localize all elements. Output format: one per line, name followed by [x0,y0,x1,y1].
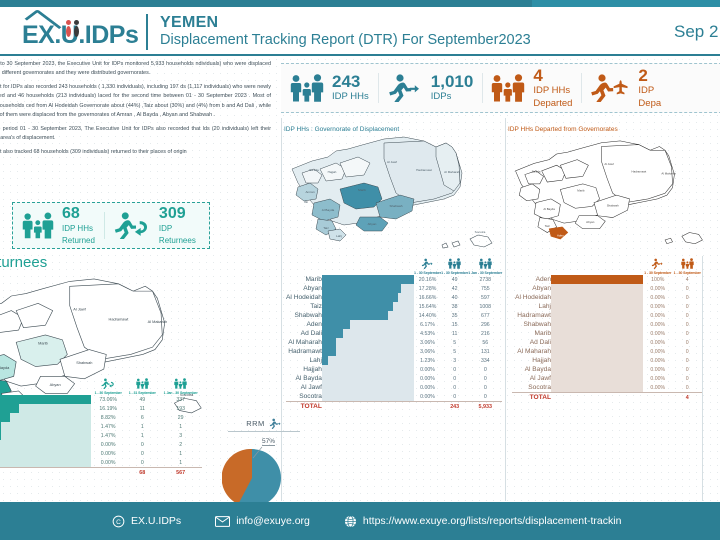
bar-track [0,449,91,458]
svg-text:Abyan: Abyan [368,222,377,226]
row-hh: 0 [672,320,702,329]
family-icon [441,258,468,271]
top-accent-bar-left [0,0,532,7]
row-total: 2738 [468,275,502,284]
stat-label2: Returned [62,236,95,245]
row-percent: 0.00% [643,284,672,293]
row-total: 1 [159,449,202,458]
rrm-chart-title: RRM [228,418,300,432]
row-total: 334 [468,356,502,365]
family-icon [672,258,702,271]
col-bar [551,258,643,275]
row-total: 216 [468,329,502,338]
table-row: Lahj0.00%0 [512,302,702,311]
svg-text:Hadramawt: Hadramawt [109,316,130,321]
table-body: Al Hodeidah73.06%49337Taiz16.19%11193Ad … [0,395,202,468]
bar-fill [322,338,336,347]
footer-email[interactable]: info@exuye.org [215,515,310,527]
bar-track [0,431,91,440]
svg-text:Aden: Aden [557,233,564,237]
stat-value: 68 [62,206,95,222]
col-header-label: 1 Jan - 30 September [159,391,202,395]
row-hh: 38 [441,302,468,311]
footer-website[interactable]: https://www.exuye.org/lists/reports/disp… [344,515,622,528]
row-bar-cell [551,275,643,284]
row-governorate: Aden [286,320,322,329]
departed-map-label: IDP HHs Departed from Governorates [508,126,618,133]
bar-track [0,422,91,431]
row-total: 3 [159,431,202,440]
row-governorate: Lahj [512,302,551,311]
row-governorate: Al Maharah [512,347,551,356]
family-icon [290,74,324,102]
total-hh: 68 [125,468,159,477]
row-governorate: Al Jawf [286,383,322,392]
col-header-label: 1 - 30 September [643,271,672,275]
stat-value: 309 [159,206,196,222]
table-row: Hadramawt3.06%5131 [286,347,502,356]
row-total: 1 [159,422,202,431]
table-row: Al Jawf0.00%00 [286,383,502,392]
svg-text:Shabwah: Shabwah [390,204,403,208]
col-total: 1 Jan - 30 September [468,258,502,275]
table-row: Marib20.16%492738 [286,275,502,284]
row-total: 56 [468,338,502,347]
svg-text:Al Jawf: Al Jawf [604,162,613,166]
svg-text:Marib: Marib [577,188,585,192]
total-label: TOTAL [286,402,322,411]
bar-fill [322,347,336,356]
stat-label: IDP HHs [533,86,572,97]
svg-text:Al Maharah: Al Maharah [444,170,460,174]
bar-track [322,311,414,320]
row-percent: 0.00% [414,365,441,374]
total-hh: 4 [672,393,702,402]
row-percent: 0.00% [91,449,125,458]
row-total: 2 [159,440,202,449]
bar-fill [322,302,393,311]
table-row: Socotra0.00%00 [286,392,502,402]
svg-text:Al Maharah: Al Maharah [661,172,676,176]
row-hh: 0 [125,458,159,468]
returnees-summary-box: 68 IDP HHs Returned 309 IDP Returnees [12,202,210,249]
narrative-paragraph: tive Unit for IDPs also recorded 243 hou… [0,83,271,120]
row-bar-cell [322,365,414,374]
stat-idp-hhs: 243 IDP HHs [281,64,378,112]
row-percent: 1.47% [91,422,125,431]
footer-brand-text: EX.U.IDPs [131,515,181,527]
row-governorate: Al Hodeidah [512,293,551,302]
svg-text:Taiz: Taiz [323,226,329,230]
table-row: Amran0.00%01 [0,458,202,468]
row-bar-cell [322,338,414,347]
col-header-label: 1 - 30 September [91,391,125,395]
bar-fill [0,431,1,440]
row-hh: 40 [441,293,468,302]
narrative-paragraph: e same period 01 - 30 September 2023, Th… [0,125,271,144]
col-percent: 1 - 30 September [643,258,672,275]
bar-track [551,284,643,293]
row-percent: 1.47% [91,431,125,440]
bar-track [322,392,414,401]
row-governorate: Hajjah [286,365,322,374]
bar-fill [322,293,398,302]
col-bar [0,378,91,395]
bar-fill [0,395,91,404]
table-header: 1 - 30 September 1 - 30 September [512,258,702,275]
row-hh: 0 [672,374,702,383]
stat-value: 2 [638,67,661,84]
bar-track [551,338,643,347]
row-percent: 0.00% [643,293,672,302]
bar-track [551,293,643,302]
header-divider [146,14,148,50]
table-footer: TOTAL 68 567 [0,468,202,477]
col-percent: 1 - 30 September [91,378,125,395]
summary-stats-strip: 243 IDP HHs 1,010 IDPs [281,63,720,113]
row-percent: 16.19% [91,404,125,413]
row-bar-cell [551,365,643,374]
row-governorate: Ad Dali [512,338,551,347]
bar-track [322,302,414,311]
row-hh: 42 [441,284,468,293]
svg-text:Al Bayda: Al Bayda [0,365,10,370]
bar-track [322,329,414,338]
displacement-map-label: IDP HHs : Governorate of Displacement [284,126,399,133]
row-total: 296 [468,320,502,329]
table-footer: TOTAL 4 [512,393,702,402]
table-row: Al Bayda1.47%13 [0,431,202,440]
row-bar-cell [322,383,414,392]
row-bar-cell [551,320,643,329]
bar-fill [0,422,1,431]
row-governorate: Marib [286,275,322,284]
row-percent: 0.00% [643,338,672,347]
table-row: Ad Dali8.82%629 [0,413,202,422]
row-percent: 8.82% [91,413,125,422]
row-governorate: Hajjah [512,356,551,365]
total-hh: 243 [441,402,468,411]
row-hh: 0 [441,374,468,383]
svg-text:Marib: Marib [358,188,366,192]
total-label: TOTAL [512,393,551,402]
row-percent: 0.00% [414,392,441,402]
family-icon [159,378,202,391]
row-hh: 0 [672,302,702,311]
row-percent: 0.00% [643,329,672,338]
person-moving-icon [269,418,282,429]
row-bar-cell [322,329,414,338]
table-row: Hajjah0.00%0 [512,356,702,365]
table-returnees: 1 - 30 September 1 - 31 September [0,378,202,476]
stat-idp-hhs-departed: 4 IDP HHs Departed [482,64,581,112]
person-moving-icon [414,258,441,271]
departed-table: 1 - 30 September 1 - 30 September Aden10… [512,258,702,401]
svg-text:Al Jawf: Al Jawf [73,307,86,312]
total-all: 5,933 [468,402,502,411]
bar-track [322,383,414,392]
table-row: Hajjah0.00%02 [0,440,202,449]
bar-track [551,365,643,374]
bar-track [322,284,414,293]
footer-email-text: info@exuye.org [236,515,310,527]
bar-track [322,374,414,383]
table-row: Al Hodeidah0.00%0 [512,293,702,302]
row-governorate: Abyan [286,284,322,293]
table-row: Al Hodeidah16.66%40597 [286,293,502,302]
row-bar-cell [322,275,414,284]
svg-text:Hajjah: Hajjah [328,170,337,174]
svg-text:Shabwah: Shabwah [76,360,92,365]
row-hh: 0 [672,311,702,320]
row-bar-cell [322,293,414,302]
table-row: Taiz16.19%11193 [0,404,202,413]
table-row: Ad Dali0.00%0 [512,338,702,347]
row-hh: 0 [672,293,702,302]
row-hh: 0 [672,356,702,365]
col-hh: 1 - 30 September [441,258,468,275]
stat-value: 243 [332,73,369,90]
total-all: 567 [159,468,202,477]
row-hh: 0 [441,383,468,392]
stat-idp-returnees: 309 IDP Returnees [104,203,205,248]
stat-value: 1,010 [431,73,474,90]
svg-text:Amran: Amran [305,190,314,194]
table-row: Hadramawt0.00%0 [512,311,702,320]
panel-divider-right [702,256,703,501]
svg-text:Sa'ada: Sa'ada [309,168,319,172]
table-row: Ad Dali4.53%11216 [286,329,502,338]
bar-track [551,275,643,284]
row-governorate: Lahj [286,356,322,365]
row-hh: 1 [125,422,159,431]
stat-label2: Departed [533,99,572,110]
table-row: Al Hodeidah73.06%49337 [0,395,202,404]
table-row: Socotra0.00%0 [512,383,702,393]
person-moving-icon [387,74,423,102]
footer-website-text: https://www.exuye.org/lists/reports/disp… [363,515,622,527]
col-header-label: 1 - 30 September [414,271,441,275]
row-percent: 0.00% [643,311,672,320]
svg-text:Al Bayda: Al Bayda [322,208,335,212]
person-departing-icon [590,74,630,102]
row-percent: 100% [643,275,672,284]
person-return-icon [91,378,125,391]
table-row: Taiz15.64%381008 [286,302,502,311]
row-total: 0 [468,365,502,374]
col-hh: 1 - 30 September [672,258,702,275]
row-hh: 35 [441,311,468,320]
svg-text:Shabwah: Shabwah [607,203,619,207]
row-governorate: Al Maharah [286,338,322,347]
stat-label: IDP [638,86,661,97]
row-percent: 3.06% [414,347,441,356]
row-governorate: Abyan [512,284,551,293]
svg-text:Taiz: Taiz [545,224,551,228]
row-governorate: Al Bayda [512,365,551,374]
row-bar-cell [0,458,91,468]
row-hh: 0 [125,440,159,449]
stat-label: IDP HHs [62,224,95,233]
row-hh: 15 [441,320,468,329]
bar-fill [322,320,350,329]
row-percent: 0.00% [91,440,125,449]
row-bar-cell [551,284,643,293]
row-total: 29 [159,413,202,422]
family-icon [125,378,159,391]
page-header: EX.U.IDPs YEMEN Displacement Tracking Re… [0,9,720,56]
table-row: Shabwah0.00%0 [512,320,702,329]
table-row: Shabwah0.00%01 [0,449,202,458]
row-percent: 14.40% [414,311,441,320]
row-bar-cell [551,374,643,383]
bar-fill [0,404,19,413]
table-row: Al Bayda0.00%00 [286,374,502,383]
table-row: Abyan17.28%42755 [286,284,502,293]
bar-track [322,347,414,356]
row-bar-cell [322,284,414,293]
row-governorate: Shabwah [286,311,322,320]
stat-label: IDP [159,224,196,233]
stat-label: IDPs [431,92,474,103]
row-governorate: Hadramawt [286,347,322,356]
row-hh: 11 [125,404,159,413]
svg-text:Lahj: Lahj [336,234,342,238]
row-governorate: Aden [512,275,551,284]
row-total: 337 [159,395,202,404]
col-governorate [286,258,322,275]
bar-fill [322,329,343,338]
bar-track [551,302,643,311]
row-governorate: Al Hodeidah [286,293,322,302]
row-bar-cell [0,413,91,422]
row-total: 0 [468,374,502,383]
row-percent: 15.64% [414,302,441,311]
row-governorate: Socotra [512,383,551,393]
row-bar-cell [551,302,643,311]
row-hh: 0 [441,392,468,402]
report-subtitle: Displacement Tracking Report (DTR) For S… [160,32,531,48]
table-row: Aden100%4 [512,275,702,284]
displacement-table: 1 - 30 September 1 - 30 September [286,258,502,410]
country-title: YEMEN [160,14,531,32]
page-footer: C EX.U.IDPs info@exuye.org https://www.e… [0,502,720,540]
row-total: 1008 [468,302,502,311]
rrm-pie [222,444,294,508]
row-hh: 49 [125,395,159,404]
row-governorate: Socotra [286,392,322,402]
col-governorate [512,258,551,275]
family-icon [22,212,54,239]
row-hh: 5 [441,338,468,347]
returnees-table: 1 - 30 September 1 - 31 September [0,378,202,476]
bar-track [0,395,91,404]
narrative-paragraph: tive Unit also tracked 68 households (30… [0,148,271,157]
bar-fill [322,284,401,293]
row-hh: 5 [441,347,468,356]
table-footer: TOTAL 243 5,933 [286,402,502,411]
row-percent: 0.00% [643,383,672,393]
row-total: 0 [468,383,502,392]
row-bar-cell [551,293,643,302]
logo-mark: EX.U.IDPs [22,14,140,50]
table-row: Al Maharah3.06%556 [286,338,502,347]
row-total: 677 [468,311,502,320]
table-body: Marib20.16%492738Abyan17.28%42755Al Hode… [286,275,502,402]
top-accent-bar-right [532,0,720,7]
stat-idps: 1,010 IDPs [378,64,483,112]
table-row: Al Maharah0.00%0 [512,347,702,356]
footer-brand: C EX.U.IDPs [112,515,181,528]
row-total: 597 [468,293,502,302]
logo[interactable]: EX.U.IDPs [0,14,140,50]
row-percent: 1.23% [414,356,441,365]
row-percent: 17.28% [414,284,441,293]
row-percent: 0.00% [91,458,125,468]
row-percent: 20.16% [414,275,441,284]
row-bar-cell [322,356,414,365]
bar-track [322,320,414,329]
svg-text:Abyan: Abyan [586,220,595,224]
row-governorate: Hadramawt [512,311,551,320]
bar-track [0,413,91,422]
row-percent: 4.53% [414,329,441,338]
row-hh: 3 [441,356,468,365]
row-governorate: Ad Dali [286,329,322,338]
row-hh: 0 [672,347,702,356]
row-hh: 0 [125,449,159,458]
svg-text:Al Jawf: Al Jawf [387,160,397,164]
row-percent: 0.00% [414,383,441,392]
bar-track [322,356,414,365]
family-icon [468,258,502,271]
row-hh: 0 [672,329,702,338]
bar-track [322,365,414,374]
row-bar-cell [551,311,643,320]
bar-track [551,356,643,365]
bar-track [0,458,91,467]
row-bar-cell [322,392,414,402]
svg-text:Al Bayda: Al Bayda [543,207,555,211]
svg-text:C: C [116,519,121,526]
svg-text:Marib: Marib [38,341,48,346]
row-governorate: Taiz [286,302,322,311]
row-governorate: Shabwah [512,320,551,329]
row-percent: 0.00% [414,374,441,383]
row-bar-cell [0,449,91,458]
row-governorate: Marib [512,329,551,338]
row-percent: 0.00% [643,374,672,383]
person-moving-icon [643,258,672,271]
table-departed: 1 - 30 September 1 - 30 September Aden10… [512,258,702,401]
row-total: 755 [468,284,502,293]
bar-track [551,374,643,383]
row-percent: 0.00% [643,356,672,365]
bar-track [322,338,414,347]
table-row: Hajjah0.00%00 [286,365,502,374]
row-bar-cell [0,422,91,431]
row-percent: 16.66% [414,293,441,302]
narrative-text: anuary to 30 September 2023, the Executi… [0,60,277,162]
row-percent: 6.17% [414,320,441,329]
stat-label: IDP HHs [332,92,369,103]
table-header: 1 - 30 September 1 - 31 September [0,378,202,395]
svg-text:Hadramawt: Hadramawt [416,168,432,172]
map-departed: Sa'adaAl Jawf MaribHadramawt Al MaharahS… [508,133,720,261]
table-row: Shabwah14.40%35677 [286,311,502,320]
table-row: Al Jawf0.00%0 [512,374,702,383]
rrm-chart: RRM 57% [228,418,300,504]
